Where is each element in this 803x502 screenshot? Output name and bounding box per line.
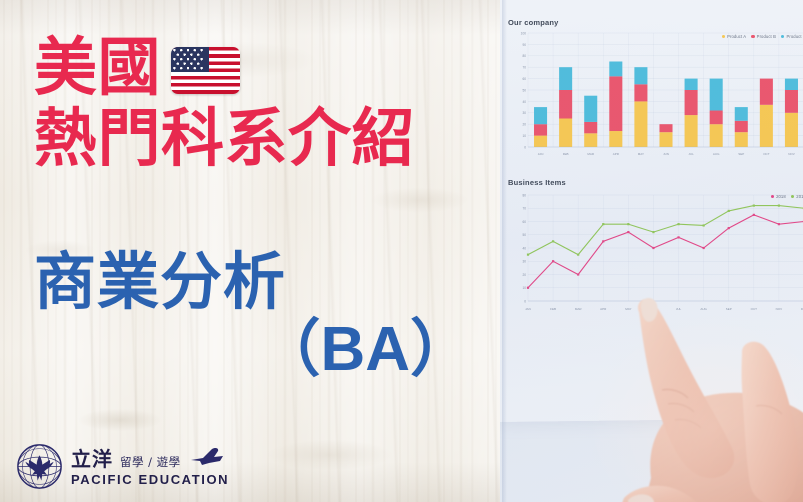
headline-line-2: 熱門科系介紹 xyxy=(34,107,494,171)
svg-text:10: 10 xyxy=(522,134,526,138)
brand-name-en: PACIFIC EDUCATION xyxy=(71,473,229,486)
brand-logo-cn-row: 立洋 留學 / 遊學 xyxy=(71,448,229,470)
svg-text:10: 10 xyxy=(522,286,526,290)
svg-text:JUL: JUL xyxy=(688,152,694,156)
svg-text:20: 20 xyxy=(522,273,526,277)
legend-label: Product C xyxy=(786,34,803,39)
bar-chart-plot: 0102030405060708090100JANFEBMARAPRMAYJUN… xyxy=(508,27,803,163)
svg-text:80: 80 xyxy=(522,54,526,58)
svg-text:70: 70 xyxy=(522,66,526,70)
svg-text:30: 30 xyxy=(522,111,526,115)
svg-text:50: 50 xyxy=(522,233,526,237)
legend-color-swatch xyxy=(771,195,775,199)
bar-chart-title: Our company xyxy=(508,18,803,27)
line-chart-legend: 20182019 xyxy=(771,194,803,199)
svg-text:0: 0 xyxy=(524,145,526,149)
svg-text:60: 60 xyxy=(522,220,526,224)
svg-text:MAR: MAR xyxy=(575,307,583,311)
svg-text:AUG: AUG xyxy=(700,307,707,311)
legend-label: Product A xyxy=(727,34,746,39)
subject-line-1: 商業分析 xyxy=(34,250,494,315)
svg-text:100: 100 xyxy=(521,31,527,35)
svg-text:APR: APR xyxy=(613,152,620,156)
right-photo-panel: Our company 0102030405060708090100JANFEB… xyxy=(500,0,803,502)
svg-text:0: 0 xyxy=(524,299,526,303)
paper-left-edge-shadow xyxy=(502,0,507,502)
legend-color-swatch xyxy=(791,195,795,199)
svg-text:MAY: MAY xyxy=(638,152,644,156)
brand-logo: 立洋 留學 / 遊學 PACIFIC EDUCATION xyxy=(16,443,229,490)
svg-text:50: 50 xyxy=(522,88,526,92)
svg-text:JAN: JAN xyxy=(538,152,544,156)
left-wood-panel: 美國 熱門科系介紹 商業分析 （BA） xyxy=(0,0,500,502)
legend-color-swatch xyxy=(722,35,726,39)
svg-text:NOV: NOV xyxy=(776,307,783,311)
legend-item: Product A xyxy=(722,34,747,39)
svg-text:OCT: OCT xyxy=(763,152,770,156)
svg-text:MAR: MAR xyxy=(587,152,595,156)
svg-text:FEB: FEB xyxy=(550,307,556,311)
svg-text:20: 20 xyxy=(522,123,526,127)
us-flag-icon xyxy=(171,47,240,94)
line-chart-business-items: Business Items 01020304050607080JANFEBMA… xyxy=(508,178,803,323)
legend-item: 2018 xyxy=(771,194,786,199)
subject-line-2: （BA） xyxy=(34,317,494,382)
svg-text:40: 40 xyxy=(522,100,526,104)
svg-text:NOV: NOV xyxy=(788,152,795,156)
line-chart-title: Business Items xyxy=(508,178,803,187)
svg-text:JUN: JUN xyxy=(651,307,657,311)
svg-text:JUN: JUN xyxy=(663,152,669,156)
poster-canvas: 美國 熱門科系介紹 商業分析 （BA） xyxy=(0,0,803,502)
brand-tagline-cn: 留學 / 遊學 xyxy=(120,457,181,469)
subject-block: 商業分析 （BA） xyxy=(34,250,494,382)
legend-label: 2019 xyxy=(796,194,803,199)
svg-text:FEB: FEB xyxy=(563,152,569,156)
svg-text:MAY: MAY xyxy=(625,307,631,311)
svg-text:OCT: OCT xyxy=(751,307,758,311)
svg-text:JAN: JAN xyxy=(525,307,531,311)
us-flag-stars xyxy=(171,47,209,72)
legend-item: Product C xyxy=(781,34,803,39)
headline-line-1-text: 美國 xyxy=(34,36,161,100)
legend-item: Product B xyxy=(751,34,776,39)
headline-block: 美國 熱門科系介紹 xyxy=(34,36,494,172)
svg-text:30: 30 xyxy=(522,260,526,264)
legend-color-swatch xyxy=(781,35,785,39)
svg-text:APR: APR xyxy=(600,307,607,311)
brand-logo-text: 立洋 留學 / 遊學 PACIFIC EDUCATION xyxy=(71,448,229,486)
bar-chart-legend: Product AProduct BProduct C xyxy=(722,34,803,39)
airplane-icon xyxy=(190,448,224,470)
legend-label: 2018 xyxy=(776,194,786,199)
svg-text:80: 80 xyxy=(522,193,526,197)
svg-text:70: 70 xyxy=(522,207,526,211)
line-chart-plot: 01020304050607080JANFEBMARAPRMAYJUNJULAU… xyxy=(508,187,803,319)
eagle-globe-emblem-icon xyxy=(16,443,63,490)
brand-name-cn: 立洋 xyxy=(71,449,113,469)
svg-text:40: 40 xyxy=(522,246,526,250)
legend-label: Product B xyxy=(757,34,776,39)
svg-text:AUG: AUG xyxy=(713,152,720,156)
legend-color-swatch xyxy=(751,35,755,39)
headline-line-1: 美國 xyxy=(34,36,494,100)
svg-text:SEP: SEP xyxy=(726,307,732,311)
bar-chart-our-company: Our company 0102030405060708090100JANFEB… xyxy=(508,18,803,168)
svg-text:SEP: SEP xyxy=(738,152,744,156)
legend-item: 2019 xyxy=(791,194,803,199)
svg-text:90: 90 xyxy=(522,43,526,47)
svg-text:60: 60 xyxy=(522,77,526,81)
svg-text:JUL: JUL xyxy=(676,307,682,311)
